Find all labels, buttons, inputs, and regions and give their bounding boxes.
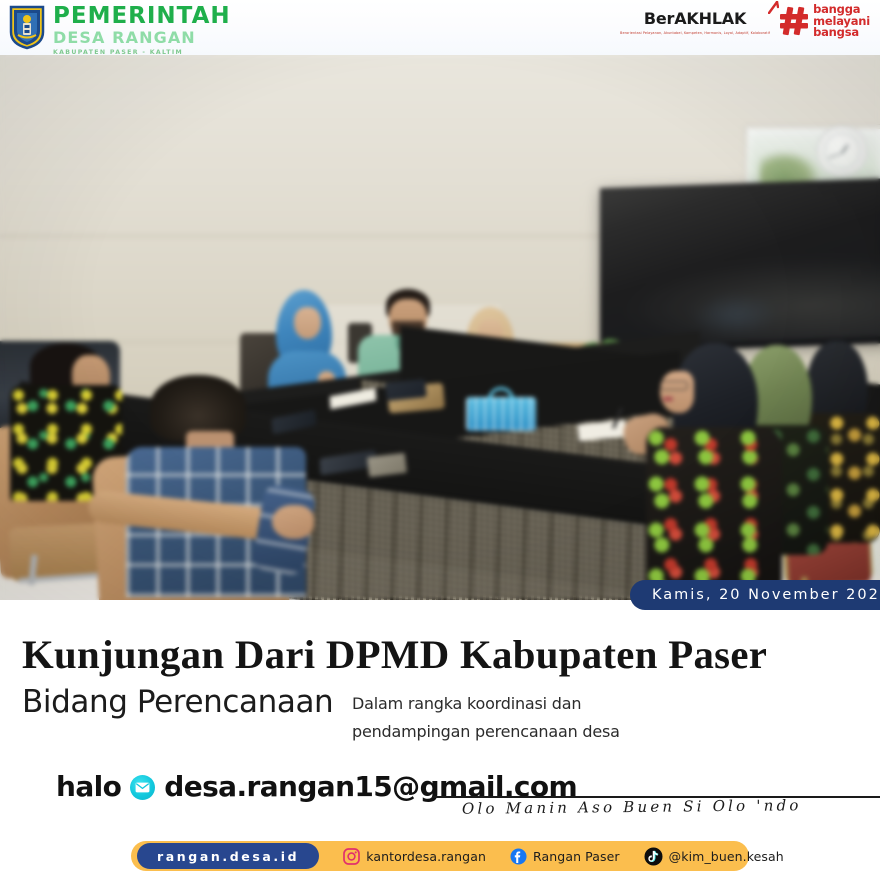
- photo-person-plaid-hand: [272, 505, 314, 539]
- photo-person-batik-body: [646, 427, 782, 585]
- village-brand-lockup: PEMERINTAH DESA RANGAN KABUPATEN PASER -…: [8, 2, 231, 57]
- photo-water-bottles: [466, 397, 536, 431]
- bangga-line3: bangsa: [813, 27, 870, 39]
- brand-line-kabupaten: KABUPATEN PASER - KALTIM: [53, 48, 231, 57]
- bangga-melayani-bangsa-logo: bangga melayani bangsa: [779, 4, 870, 39]
- date-badge-text: Kamis, 20 November 2025: [652, 587, 880, 603]
- brand-line-pemerintah: PEMERINTAH: [53, 5, 231, 28]
- photo-person-batik-glasses: [660, 381, 688, 390]
- photo-person-batik-lips: [663, 397, 673, 401]
- description-line-1: Dalam rangka koordinasi dan: [352, 690, 620, 718]
- tiktok-icon: [644, 847, 663, 866]
- tiktok-handle: @kim_buen.kesah: [669, 849, 784, 864]
- facebook-handle: Rangan Paser: [533, 849, 620, 864]
- government-crest-icon: [8, 4, 46, 50]
- bangga-slogan: bangga melayani bangsa: [813, 4, 870, 39]
- page-description: Dalam rangka koordinasi dan pendampingan…: [352, 690, 620, 746]
- website-pill[interactable]: rangan.desa.id: [137, 843, 319, 869]
- social-footer-bar: rangan.desa.id kantordesa.rangan Rangan …: [131, 841, 749, 871]
- berakhlak-label: BerAKHLAK: [644, 10, 746, 27]
- instagram-handle: kantordesa.rangan: [366, 849, 486, 864]
- berakhlak-logo: BerAKHLAK Berorientasi Pelayanan, Akunta…: [620, 8, 770, 36]
- social-item-instagram[interactable]: kantordesa.rangan: [343, 848, 486, 865]
- berakhlak-subtitle: Berorientasi Pelayanan, Akuntabel, Kompe…: [620, 30, 770, 35]
- meeting-photo: [0, 55, 880, 600]
- page-title: Kunjungan Dari DPMD Kabupaten Paser: [22, 633, 767, 677]
- facebook-icon: [510, 848, 527, 865]
- email-greeting: halo: [56, 772, 121, 802]
- instagram-icon: [343, 848, 360, 865]
- hashtag-icon: [779, 6, 809, 36]
- photo-television-reflection-2: [690, 291, 780, 338]
- website-url: rangan.desa.id: [157, 849, 299, 864]
- photo-person-batik-face: [660, 371, 694, 413]
- envelope-icon: [130, 775, 155, 800]
- social-item-facebook[interactable]: Rangan Paser: [510, 848, 620, 865]
- brand-line-desa-rangan: DESA RANGAN: [53, 29, 231, 46]
- content-section: Kunjungan Dari DPMD Kabupaten Paser Bida…: [0, 600, 880, 880]
- social-item-tiktok[interactable]: @kim_buen.kesah: [644, 847, 784, 866]
- handwritten-tagline: Olo Manin Aso Buen Si Olo 'ndo: [462, 796, 802, 818]
- date-badge: Kamis, 20 November 2025: [630, 580, 880, 610]
- photo-person-blue-hijab-face: [294, 307, 321, 339]
- government-campaign-logos: BerAKHLAK Berorientasi Pelayanan, Akunta…: [620, 4, 870, 39]
- description-line-2: pendampingan perencanaan desa: [352, 718, 620, 746]
- infographic-poster: PEMERINTAH DESA RANGAN KABUPATEN PASER -…: [0, 0, 880, 880]
- page-subtitle: Bidang Perencanaan: [22, 684, 333, 720]
- poster-header: PEMERINTAH DESA RANGAN KABUPATEN PASER -…: [0, 0, 880, 55]
- check-tick-icon: [768, 1, 779, 14]
